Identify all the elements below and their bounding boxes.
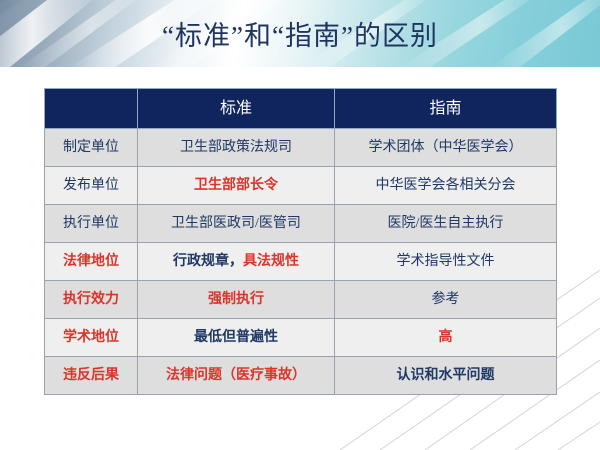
cell-text-segment: 认识和水平问题 [397, 368, 495, 383]
cell-text-segment: 强制执行 [208, 292, 264, 307]
table-cell-guideline: 学术指导性文件 [335, 243, 557, 281]
table-cell-guideline: 认识和水平问题 [335, 357, 557, 395]
table-cell-label: 制定单位 [45, 129, 138, 167]
cell-text-segment: 医院/医生自主执行 [388, 216, 504, 231]
cell-text-segment: 法律问题（医疗事故） [166, 368, 306, 383]
row-label-text: 执行效力 [63, 292, 119, 307]
cell-text-segment: 行政规章， [173, 254, 243, 269]
table-cell-standard: 强制执行 [138, 281, 335, 319]
table-cell-standard: 行政规章，具法规性 [138, 243, 335, 281]
table-header-cell-standard: 标准 [138, 89, 335, 129]
table-row: 执行单位卫生部医政司/医管司医院/医生自主执行 [45, 205, 557, 243]
table-cell-guideline: 中华医学会各相关分会 [335, 167, 557, 205]
table-cell-guideline: 医院/医生自主执行 [335, 205, 557, 243]
table-row: 制定单位卫生部政策法规司学术团体（中华医学会） [45, 129, 557, 167]
cell-text-segment: 参考 [432, 292, 460, 307]
table-cell-standard: 最低但普遍性 [138, 319, 335, 357]
cell-text-segment: 最低但普遍性 [194, 330, 278, 345]
cell-text-segment: 具法规性 [243, 254, 299, 269]
cell-text-segment: 卫生部医政司/医管司 [171, 216, 301, 231]
row-label-text: 违反后果 [63, 368, 119, 383]
slide-canvas: “标准”和“指南”的区别 标准 指南 制定单位卫生部政策法规司 [0, 0, 600, 450]
cell-text-segment: 卫生部部长令 [194, 178, 278, 193]
table-row: 违反后果法律问题（医疗事故）认识和水平问题 [45, 357, 557, 395]
table-cell-label: 法律地位 [45, 243, 138, 281]
row-label-text: 法律地位 [63, 254, 119, 269]
table-body: 制定单位卫生部政策法规司学术团体（中华医学会）发布单位卫生部部长令中华医学会各相… [45, 129, 557, 395]
table-cell-guideline: 学术团体（中华医学会） [335, 129, 557, 167]
table-cell-label: 执行单位 [45, 205, 138, 243]
table-cell-label: 发布单位 [45, 167, 138, 205]
table-row: 执行效力强制执行参考 [45, 281, 557, 319]
cell-text-segment: 学术指导性文件 [397, 254, 495, 269]
table-row: 法律地位行政规章，具法规性学术指导性文件 [45, 243, 557, 281]
table-cell-standard: 卫生部医政司/医管司 [138, 205, 335, 243]
row-label-text: 发布单位 [63, 178, 119, 193]
table-cell-standard: 法律问题（医疗事故） [138, 357, 335, 395]
table-header-row: 标准 指南 [45, 89, 557, 129]
table-row: 学术地位最低但普遍性高 [45, 319, 557, 357]
page-title: “标准”和“指南”的区别 [0, 0, 600, 67]
table-cell-guideline: 参考 [335, 281, 557, 319]
cell-text-segment: 高 [439, 330, 453, 345]
table-header: 标准 指南 [45, 89, 557, 129]
row-label-text: 学术地位 [63, 330, 119, 345]
comparison-table-container: 标准 指南 制定单位卫生部政策法规司学术团体（中华医学会）发布单位卫生部部长令中… [44, 88, 556, 395]
table-cell-standard: 卫生部部长令 [138, 167, 335, 205]
table-cell-guideline: 高 [335, 319, 557, 357]
comparison-table: 标准 指南 制定单位卫生部政策法规司学术团体（中华医学会）发布单位卫生部部长令中… [44, 88, 557, 395]
cell-text-segment: 中华医学会各相关分会 [376, 178, 516, 193]
table-header-cell-guideline: 指南 [335, 89, 557, 129]
table-cell-label: 学术地位 [45, 319, 138, 357]
table-header-cell-blank [45, 89, 138, 129]
title-banner: “标准”和“指南”的区别 [0, 0, 600, 67]
table-cell-label: 违反后果 [45, 357, 138, 395]
row-label-text: 执行单位 [63, 216, 119, 231]
cell-text-segment: 学术团体（中华医学会） [369, 140, 523, 155]
row-label-text: 制定单位 [63, 140, 119, 155]
cell-text-segment: 卫生部政策法规司 [180, 140, 292, 155]
table-cell-label: 执行效力 [45, 281, 138, 319]
table-cell-standard: 卫生部政策法规司 [138, 129, 335, 167]
table-row: 发布单位卫生部部长令中华医学会各相关分会 [45, 167, 557, 205]
